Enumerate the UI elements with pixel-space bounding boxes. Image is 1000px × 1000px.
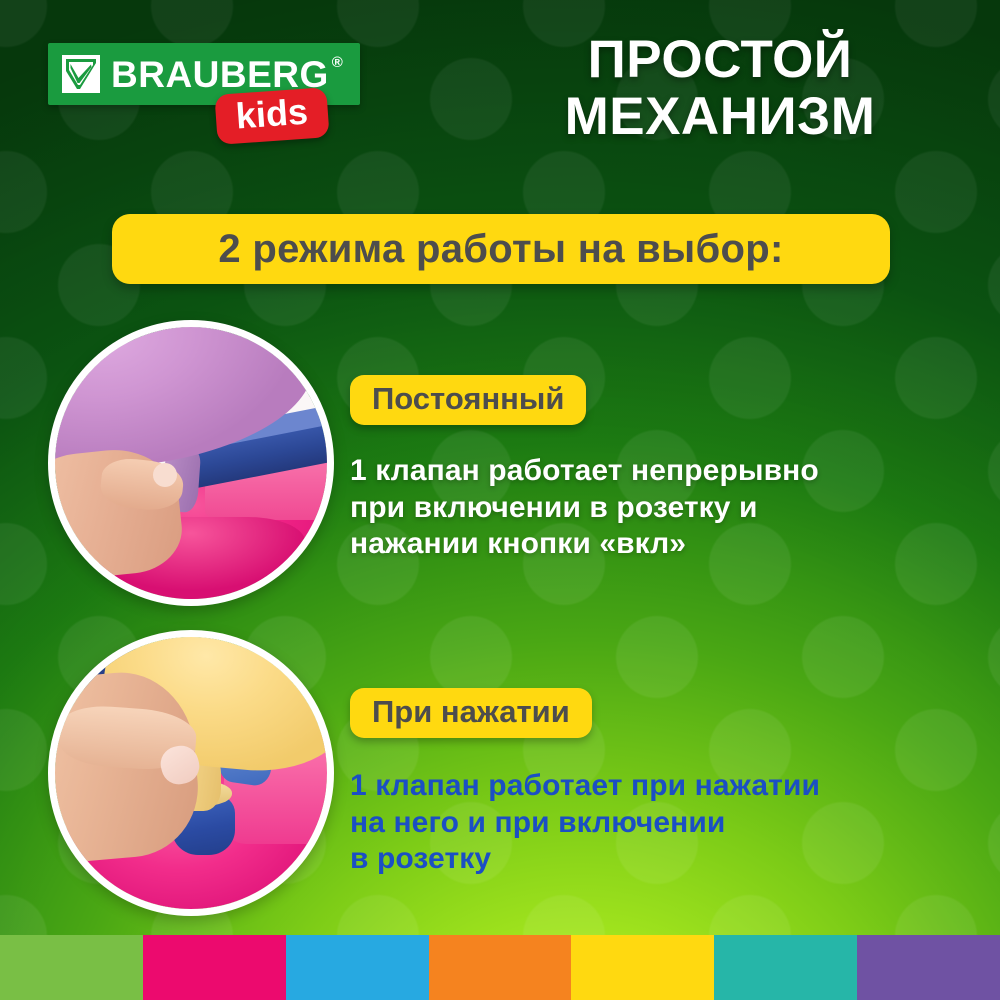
mode-description-permanent-line-3: нажании кнопки «вкл» xyxy=(350,526,950,563)
stripe-swatch-teal xyxy=(714,935,857,1000)
mode-pill-permanent: Постоянный xyxy=(350,375,586,425)
promo-poster: BRAUBERG ® kids ПРОСТОЙ МЕХАНИЗМ 2 режим… xyxy=(0,0,1000,1000)
modes-banner-label: 2 режима работы на выбор: xyxy=(218,227,783,272)
stripe-swatch-purple xyxy=(857,935,1000,1000)
stripe-swatch-pink xyxy=(143,935,286,1000)
registered-mark: ® xyxy=(332,54,343,71)
logo-wordmark: BRAUBERG xyxy=(111,56,329,93)
checkmark-icon xyxy=(62,55,100,93)
page-title-line-1: ПРОСТОЙ xyxy=(470,32,970,89)
page-title-line-2: МЕХАНИЗМ xyxy=(470,89,970,146)
mode-description-on-press-line-1: 1 клапан работает при нажатии xyxy=(350,768,950,805)
mode-description-permanent-line-1: 1 клапан работает непрерывно xyxy=(350,453,950,490)
mode-description-permanent-line-2: при включении в розетку и xyxy=(350,490,950,527)
photo-hand-pressing-valve xyxy=(48,630,334,916)
mode-pill-on-press-label: При нажатии xyxy=(372,694,570,729)
brand-logo: BRAUBERG ® kids xyxy=(48,43,388,163)
stripe-swatch-green xyxy=(0,935,143,1000)
kids-badge-label: kids xyxy=(235,94,309,135)
page-title: ПРОСТОЙ МЕХАНИЗМ xyxy=(470,32,970,145)
stripe-swatch-blue xyxy=(286,935,429,1000)
mode-pill-permanent-label: Постоянный xyxy=(372,381,564,416)
mode-description-on-press-line-3: в розетку xyxy=(350,841,950,878)
modes-banner: 2 режима работы на выбор: xyxy=(112,214,890,284)
mode-description-on-press-line-2: на него и при включении xyxy=(350,805,950,842)
bottom-color-stripe xyxy=(0,935,1000,1000)
photo-hand-holding-balloon xyxy=(48,320,334,606)
mode-description-on-press: 1 клапан работает при нажатии на него и … xyxy=(350,768,950,878)
kids-badge: kids xyxy=(214,87,329,145)
stripe-swatch-yellow xyxy=(571,935,714,1000)
mode-pill-on-press: При нажатии xyxy=(350,688,592,738)
mode-description-permanent: 1 клапан работает непрерывно при включен… xyxy=(350,453,950,563)
stripe-swatch-orange xyxy=(429,935,572,1000)
